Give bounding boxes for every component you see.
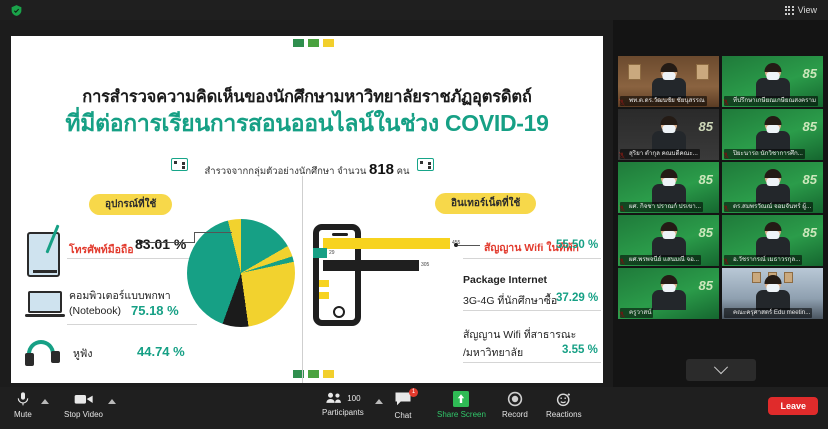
participant-tile[interactable]: 85ครูวาสน์	[618, 268, 719, 319]
encryption-shield-icon[interactable]	[10, 4, 23, 17]
leave-button[interactable]: Leave	[768, 397, 818, 415]
internet-label-2: สัญญาน Wifi ที่สาธารณะ	[463, 326, 576, 343]
pie-leader-line	[142, 242, 194, 243]
internet-label-1: Package Internet	[463, 274, 547, 286]
backdrop-logo: 85	[803, 172, 817, 187]
share-screen-button[interactable]: Share Screen	[437, 391, 486, 419]
participant-tile[interactable]: 85สุริยา ดำกุล คณบดีคณะ...	[618, 109, 719, 160]
mute-label: Mute	[14, 410, 32, 419]
device-rule-1	[67, 324, 197, 325]
share-screen-icon	[453, 391, 469, 407]
backdrop-logo: 85	[699, 119, 713, 134]
internet-leader-line	[458, 245, 480, 246]
view-button-label: View	[798, 5, 817, 15]
device-label-1: คอมพิวเตอร์แบบพกพา	[69, 287, 171, 304]
subtitle-suffix: คน	[397, 166, 410, 177]
participants-count: 100	[347, 394, 360, 403]
presentation-slide: การสำรวจความคิดเห็นของนักศึกษามหาวิทยาลั…	[11, 36, 603, 383]
zoom-meeting-window: View การสำรวจความคิดเห็นของนักศึกษามหาวิ…	[0, 0, 828, 429]
stop-video-button[interactable]: Stop Video	[64, 391, 103, 419]
device-label-1b: (Notebook)	[69, 305, 121, 317]
participant-avatar	[756, 117, 790, 151]
participant-name: ผศ.พรพจนีย์ แสนมณี จอ...	[620, 255, 701, 265]
participant-tile[interactable]: 85ที่ปรึกษาเกษียณเกษียณสงคราม	[722, 56, 823, 107]
internet-bar-1	[323, 260, 419, 271]
participant-tile[interactable]: 85ผศ. กิจชา ปราณก์ ปรเขา...	[618, 162, 719, 213]
backdrop-logo: 85	[699, 225, 713, 240]
device-rule-0	[67, 258, 197, 259]
grid-view-icon	[785, 6, 794, 15]
participant-video-strip[interactable]: พท.ต.ดร.วัฒนชัย ชัยนุสรรณ85ที่ปรึกษาเกษี…	[613, 20, 828, 387]
internet-bar-4	[319, 292, 329, 299]
participant-tile[interactable]: 85ปิยะนารถ นักวิชาการศึก...	[722, 109, 823, 160]
participant-name: คณะครุศาสตร์ Edu meetin...	[724, 308, 812, 318]
internet-value-0: 55.50 %	[556, 239, 598, 251]
participant-avatar	[652, 170, 686, 204]
device-value-2: 44.74 %	[137, 344, 185, 359]
scroll-down-button[interactable]	[686, 359, 756, 381]
participant-name: พท.ต.ดร.วัฒนชัย ชัยนุสรรณ	[620, 96, 707, 106]
participant-tile[interactable]: คณะครุศาสตร์ Edu meetin...	[722, 268, 823, 319]
chat-unread-badge: 1	[409, 388, 418, 397]
mute-options-caret[interactable]	[41, 399, 49, 404]
internet-label-2b: /มหาวิทยาลัย	[463, 344, 523, 361]
participant-tile[interactable]: 85ผศ.พรพจนีย์ แสนมณี จอ...	[618, 215, 719, 266]
participants-button[interactable]: 100 Participants	[322, 391, 364, 417]
participant-avatar	[652, 276, 686, 310]
backdrop-logo: 85	[803, 66, 817, 81]
slide-title-line2: ที่มีต่อการเรียนการสอนออนไลน์ในช่วง COVI…	[11, 106, 603, 142]
slide-top-decoration	[293, 39, 334, 47]
subtitle-prefix: สำรวจจากกลุ่มตัวอย่างนักศึกษา จำนวน	[204, 166, 366, 177]
internet-bar-2	[313, 248, 327, 258]
record-icon	[507, 391, 523, 407]
participant-avatar	[756, 276, 790, 310]
participant-avatar	[652, 223, 686, 257]
mute-button[interactable]: Mute	[14, 391, 32, 419]
internet-bar-label-2: 29	[329, 250, 335, 256]
tablet-icon	[27, 232, 60, 277]
participant-tile[interactable]: 85อ.วัชรากรณ์ เมธาวรกุล...	[722, 215, 823, 266]
view-button[interactable]: View	[780, 2, 822, 18]
internet-value-1: 37.29 %	[556, 292, 598, 304]
participant-avatar	[652, 64, 686, 98]
participants-options-caret[interactable]	[375, 399, 383, 404]
record-label: Record	[502, 410, 528, 419]
internet-bar-0	[323, 238, 450, 249]
subtitle-number: 818	[369, 161, 394, 178]
participant-avatar	[756, 170, 790, 204]
people-icon	[325, 391, 343, 405]
internet-rule-0	[463, 258, 601, 259]
internet-rule-2	[463, 362, 601, 363]
backdrop-logo: 85	[803, 119, 817, 134]
share-screen-label: Share Screen	[437, 410, 486, 419]
chevron-down-icon	[714, 360, 728, 374]
participant-name: อ.วัชรากรณ์ เมธาวรกุล...	[724, 255, 802, 265]
reactions-icon	[556, 391, 572, 407]
participant-name: ครูวาสน์	[620, 308, 653, 318]
backdrop-logo: 85	[699, 278, 713, 293]
pie-leader-line-v	[194, 232, 195, 243]
internet-value-2: 3.55 %	[562, 344, 598, 356]
device-value-1: 75.18 %	[131, 303, 179, 318]
reactions-label: Reactions	[546, 410, 582, 419]
internet-section-pill: อินเทอร์เน็ตที่ใช้	[435, 193, 536, 214]
slide-bottom-decoration	[293, 370, 334, 378]
participant-name: ผศ. กิจชา ปราณก์ ปรเขา...	[620, 202, 703, 212]
devices-section-pill: อุปกรณ์ที่ใช้	[89, 194, 172, 215]
camera-icon	[74, 391, 94, 407]
chat-button[interactable]: 1 Chat	[394, 391, 412, 420]
participant-tile[interactable]: 85ดร.สมพรวัณณ์ จอมจันทร์ ผู้...	[722, 162, 823, 213]
participant-name: ที่ปรึกษาเกษียณเกษียณสงคราม	[724, 96, 818, 106]
reactions-button[interactable]: Reactions	[546, 391, 582, 419]
internet-bar-3	[319, 280, 329, 287]
chat-label: Chat	[395, 411, 412, 420]
stop-video-label: Stop Video	[64, 410, 103, 419]
pie-leader-line-h	[194, 232, 232, 233]
video-options-caret[interactable]	[108, 399, 116, 404]
device-label-0: โทรศัพท์มือถือ	[69, 241, 134, 258]
backdrop-logo: 85	[803, 225, 817, 240]
meeting-toolbar: Mute Stop Video 100 Participants	[0, 387, 828, 429]
shared-screen-area[interactable]: การสำรวจความคิดเห็นของนักศึกษามหาวิทยาลั…	[0, 20, 613, 387]
laptop-icon	[25, 291, 65, 319]
internet-rule-1	[463, 310, 601, 311]
title-bar: View	[0, 0, 828, 20]
participant-name: สุริยา ดำกุล คณบดีคณะ...	[620, 149, 700, 159]
column-divider	[302, 176, 303, 383]
devices-pie-chart	[187, 219, 295, 327]
participant-name: ปิยะนารถ นักวิชาการศึก...	[724, 149, 805, 159]
headphones-icon	[27, 336, 67, 366]
device-value-0: 83.01 %	[135, 236, 186, 252]
microphone-icon	[15, 391, 31, 407]
participant-avatar	[756, 64, 790, 98]
record-button[interactable]: Record	[502, 391, 528, 419]
participant-avatar	[756, 223, 790, 257]
participant-name: ดร.สมพรวัณณ์ จอมจันทร์ ผู้...	[724, 202, 813, 212]
slide-subtitle: สำรวจจากกลุ่มตัวอย่างนักศึกษา จำนวน 818 …	[11, 161, 603, 179]
participant-avatar	[652, 117, 686, 151]
participants-label: Participants	[322, 408, 364, 417]
internet-bar-label-1: 305	[421, 262, 429, 268]
backdrop-logo: 85	[699, 172, 713, 187]
internet-label-1b: 3G-4G ที่นักศึกษาซื้อ	[463, 292, 557, 309]
participant-tile[interactable]: พท.ต.ดร.วัฒนชัย ชัยนุสรรณ	[618, 56, 719, 107]
device-label-2: หูฟัง	[73, 345, 92, 362]
